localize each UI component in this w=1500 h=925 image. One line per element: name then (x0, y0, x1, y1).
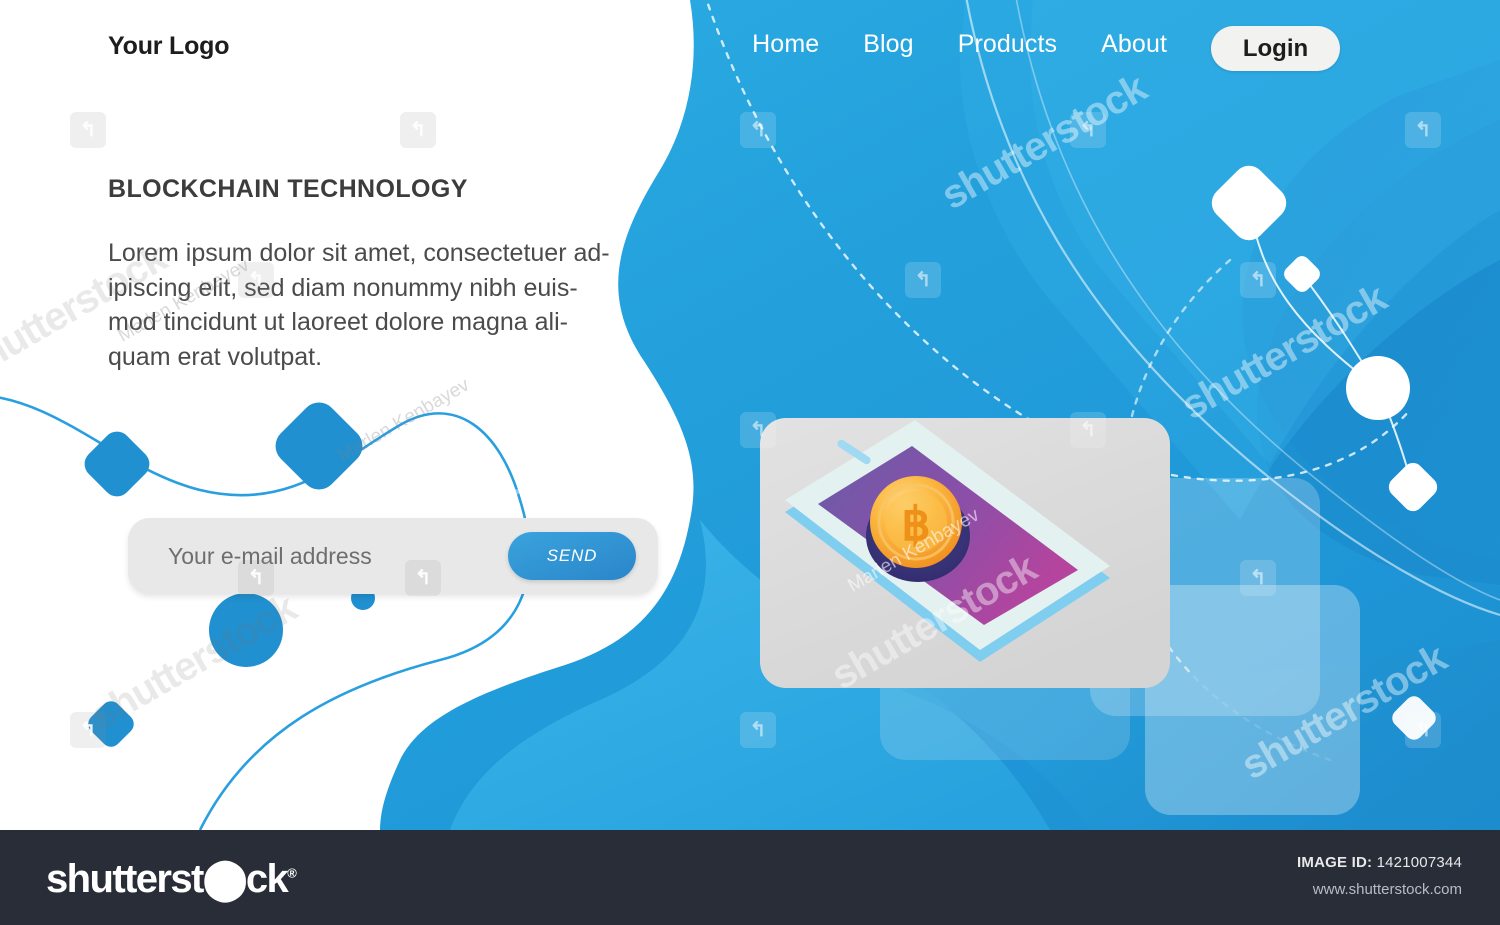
hero-section: BLOCKCHAIN TECHNOLOGY Lorem ipsum dolor … (108, 175, 708, 374)
email-input[interactable] (168, 543, 488, 570)
image-id-label: IMAGE ID: (1297, 854, 1372, 871)
bitcoin-symbol: ฿ (901, 498, 930, 550)
shutterstock-wordmark: shutterst⬤ck (46, 857, 287, 901)
nav-link-home[interactable]: Home (752, 30, 819, 59)
footer-bar: shutterst⬤ck® IMAGE ID: 1421007344 www.s… (0, 830, 1500, 925)
newsletter-signup-form: SEND (128, 518, 658, 594)
site-logo[interactable]: Your Logo (108, 32, 229, 61)
page-root: Your Logo Home Blog Products About Login… (0, 0, 1500, 925)
footer-meta: IMAGE ID: 1421007344 www.shutterstock.co… (1297, 854, 1462, 898)
footer-url: www.shutterstock.com (1297, 881, 1462, 898)
page-title: BLOCKCHAIN TECHNOLOGY (108, 175, 708, 204)
nav-link-about[interactable]: About (1101, 30, 1167, 59)
nav-link-products[interactable]: Products (958, 30, 1057, 59)
send-button[interactable]: SEND (508, 532, 636, 580)
shutterstock-logo: shutterst⬤ck® (46, 856, 297, 902)
nav-link-blog[interactable]: Blog (863, 30, 913, 59)
image-id-value: 1421007344 (1377, 854, 1462, 871)
blockchain-phone-illustration: ฿ (740, 400, 1300, 800)
image-id-row: IMAGE ID: 1421007344 (1297, 854, 1462, 871)
hero-paragraph: Lorem ipsum dolor sit amet, consectetuer… (108, 236, 708, 374)
login-button[interactable]: Login (1211, 26, 1340, 71)
registered-mark: ® (287, 866, 297, 881)
